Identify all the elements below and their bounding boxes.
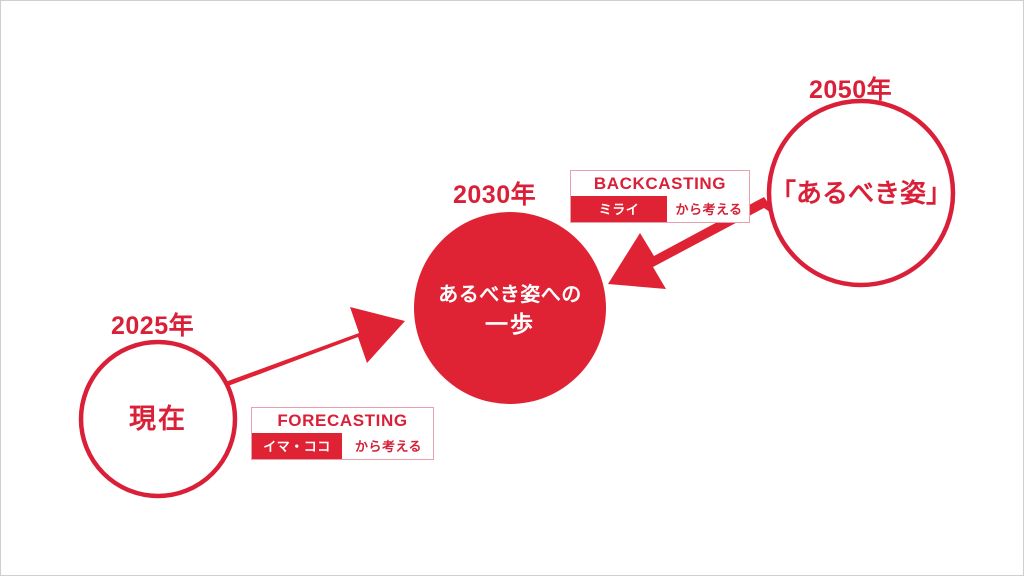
year-label-2050: 2050年 — [809, 70, 892, 106]
forecasting-subrow: イマ・ココ から考える — [252, 433, 433, 459]
future-circle-label: 「あるべき姿」 — [761, 173, 961, 210]
forecasting-title: FORECASTING — [252, 408, 433, 433]
forecasting-arrow — [214, 307, 405, 412]
forecasting-tail: から考える — [342, 433, 433, 459]
year-label-2025: 2025年 — [111, 306, 194, 342]
midpoint-circle-label: あるべき姿への 一歩 — [414, 282, 606, 340]
midpoint-circle-label-line2: 一歩 — [414, 309, 606, 340]
forecasting-chip: イマ・ココ — [252, 433, 342, 459]
backcasting-chip: ミライ — [571, 196, 667, 222]
midpoint-circle-label-line1: あるべき姿への — [414, 282, 606, 309]
diagram-canvas: 2025年 2030年 2050年 現在 あるべき姿への 一歩 「あるべき姿」 … — [0, 0, 1024, 576]
backcasting-label-box: BACKCASTING ミライ から考える — [570, 170, 750, 223]
year-label-2030: 2030年 — [453, 175, 536, 211]
forecasting-label-box: FORECASTING イマ・ココ から考える — [251, 407, 434, 460]
backcasting-tail: から考える — [667, 196, 749, 222]
present-circle-label: 現在 — [79, 397, 237, 436]
backcasting-title: BACKCASTING — [571, 171, 749, 196]
backcasting-subrow: ミライ から考える — [571, 196, 749, 222]
